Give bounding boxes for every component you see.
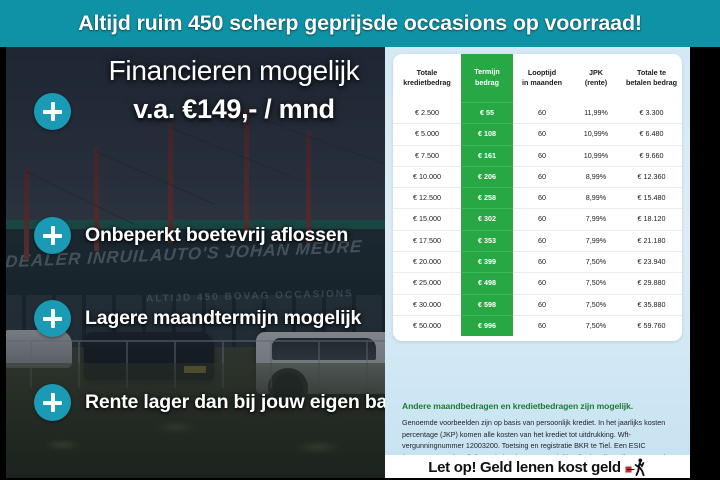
cell-jkp: 7,99% xyxy=(571,209,621,230)
top-banner: Altijd ruim 450 scherp geprijsde occasio… xyxy=(0,0,720,47)
cell-krediet: € 25.000 xyxy=(393,273,461,294)
table-row: € 2.500 € 55 60 11,99% € 3.300 xyxy=(393,103,682,124)
cell-totaal: € 3.300 xyxy=(621,103,682,124)
cell-looptijd: 60 xyxy=(513,103,571,124)
cell-krediet: € 10.000 xyxy=(393,166,461,187)
promo-bullet-item: Onbeperkt boetevrij aflossen xyxy=(34,217,348,254)
plus-circle-icon xyxy=(34,93,71,130)
cell-totaal: € 59.760 xyxy=(621,315,682,336)
cell-looptijd: 60 xyxy=(513,230,571,251)
rate-table-col-looptijd: Looptijd in maanden xyxy=(513,54,571,103)
cell-krediet: € 17.500 xyxy=(393,230,461,251)
table-row: € 7.500 € 161 60 10,99% € 9.660 xyxy=(393,145,682,166)
rate-table: Totale kredietbedrag Termijn bedrag Loop… xyxy=(393,54,682,336)
promo-bullet-label: Rente lager dan bij jouw eigen bank xyxy=(85,391,410,414)
rate-table-col-termijn: Termijn bedrag xyxy=(461,54,513,103)
promo-bullet-item: Lagere maandtermijn mogelijk xyxy=(34,300,361,337)
cell-jkp: 8,99% xyxy=(571,166,621,187)
cell-termijn: € 161 xyxy=(461,145,513,166)
rate-table-body: € 2.500 € 55 60 11,99% € 3.300 € 5.000 €… xyxy=(393,103,682,337)
disclaimer-body: Genoemde voorbeelden zijn op basis van p… xyxy=(402,417,674,455)
credit-warning-bar: Let op! Geld lenen kost geld xyxy=(385,455,690,480)
advertisement-screenshot: Altijd ruim 450 scherp geprijsde occasio… xyxy=(0,0,720,480)
cell-termijn: € 206 xyxy=(461,166,513,187)
cell-krediet: € 30.000 xyxy=(393,294,461,315)
table-row: € 30.000 € 598 60 7,50% € 35.880 xyxy=(393,294,682,315)
cell-krediet: € 7.500 xyxy=(393,145,461,166)
cell-totaal: € 35.880 xyxy=(621,294,682,315)
cell-looptijd: 60 xyxy=(513,252,571,273)
rate-table-container: Totale kredietbedrag Termijn bedrag Loop… xyxy=(393,54,682,341)
cell-jkp: 11,99% xyxy=(571,103,621,124)
cell-termijn: € 108 xyxy=(461,124,513,145)
cell-termijn: € 258 xyxy=(461,188,513,209)
cell-termijn: € 55 xyxy=(461,103,513,124)
cell-jkp: 7,50% xyxy=(571,315,621,336)
table-row: € 25.000 € 498 60 7,50% € 29.880 xyxy=(393,273,682,294)
cell-jkp: 7,50% xyxy=(571,294,621,315)
table-row: € 17.500 € 353 60 7,99% € 21.180 xyxy=(393,230,682,251)
cell-jkp: 7,50% xyxy=(571,252,621,273)
cell-looptijd: 60 xyxy=(513,145,571,166)
cell-jkp: 8,99% xyxy=(571,188,621,209)
cell-totaal: € 29.880 xyxy=(621,273,682,294)
cell-looptijd: 60 xyxy=(513,315,571,336)
cell-looptijd: 60 xyxy=(513,166,571,187)
cell-jkp: 10,99% xyxy=(571,124,621,145)
top-banner-headline: Altijd ruim 450 scherp geprijsde occasio… xyxy=(78,11,642,36)
cell-totaal: € 15.480 xyxy=(621,188,682,209)
cell-krediet: € 5.000 xyxy=(393,124,461,145)
cell-looptijd: 60 xyxy=(513,188,571,209)
table-row: € 5.000 € 108 60 10,99% € 6.480 xyxy=(393,124,682,145)
cell-jkp: 10,99% xyxy=(571,145,621,166)
cell-termijn: € 996 xyxy=(461,315,513,336)
rate-table-col-jkp: JPK (rente) xyxy=(571,54,621,103)
cell-totaal: € 6.480 xyxy=(621,124,682,145)
rate-table-header-row: Totale kredietbedrag Termijn bedrag Loop… xyxy=(393,54,682,103)
cell-krediet: € 15.000 xyxy=(393,209,461,230)
cell-termijn: € 399 xyxy=(461,252,513,273)
afm-walking-man-icon xyxy=(625,458,647,477)
promo-bullet-item: Rente lager dan bij jouw eigen bank xyxy=(34,384,410,421)
cell-krediet: € 20.000 xyxy=(393,252,461,273)
cell-looptijd: 60 xyxy=(513,273,571,294)
cell-looptijd: 60 xyxy=(513,209,571,230)
cell-termijn: € 498 xyxy=(461,273,513,294)
cell-krediet: € 50.000 xyxy=(393,315,461,336)
plus-circle-icon xyxy=(34,217,71,254)
promo-bullet-label: Lagere maandtermijn mogelijk xyxy=(85,307,361,330)
cell-jkp: 7,50% xyxy=(571,273,621,294)
cell-termijn: € 598 xyxy=(461,294,513,315)
cell-totaal: € 12.360 xyxy=(621,166,682,187)
table-row: € 12.500 € 258 60 8,99% € 15.480 xyxy=(393,188,682,209)
cell-looptijd: 60 xyxy=(513,294,571,315)
table-row: € 10.000 € 206 60 8,99% € 12.360 xyxy=(393,166,682,187)
promo-bullet-list: Onbeperkt boetevrij aflossen Lagere maan… xyxy=(6,47,396,480)
cell-totaal: € 18.120 xyxy=(621,209,682,230)
frame-gutter-left xyxy=(0,47,6,480)
table-row: € 15.000 € 302 60 7,99% € 18.120 xyxy=(393,209,682,230)
table-row: € 50.000 € 996 60 7,50% € 59.760 xyxy=(393,315,682,336)
plus-circle-icon xyxy=(34,300,71,337)
cell-krediet: € 12.500 xyxy=(393,188,461,209)
rate-table-col-totaal: Totale te betalen bedrag xyxy=(621,54,682,103)
disclaimer-title: Andere maandbedragen en kredietbedragen … xyxy=(402,401,677,411)
credit-warning-text: Let op! Geld lenen kost geld xyxy=(428,459,620,476)
cell-totaal: € 23.940 xyxy=(621,252,682,273)
cell-totaal: € 9.660 xyxy=(621,145,682,166)
promo-bullet-headline-marker xyxy=(34,93,71,130)
cell-jkp: 7,99% xyxy=(571,230,621,251)
finance-info-card: Totale kredietbedrag Termijn bedrag Loop… xyxy=(385,47,690,455)
frame-gutter-right xyxy=(690,47,720,480)
promo-bullet-label: Onbeperkt boetevrij aflossen xyxy=(85,224,348,247)
table-row: € 20.000 € 399 60 7,50% € 23.940 xyxy=(393,252,682,273)
rate-table-col-krediet: Totale kredietbedrag xyxy=(393,54,461,103)
cell-totaal: € 21.180 xyxy=(621,230,682,251)
cell-termijn: € 353 xyxy=(461,230,513,251)
cell-termijn: € 302 xyxy=(461,209,513,230)
plus-circle-icon xyxy=(34,384,71,421)
cell-looptijd: 60 xyxy=(513,124,571,145)
cell-krediet: € 2.500 xyxy=(393,103,461,124)
